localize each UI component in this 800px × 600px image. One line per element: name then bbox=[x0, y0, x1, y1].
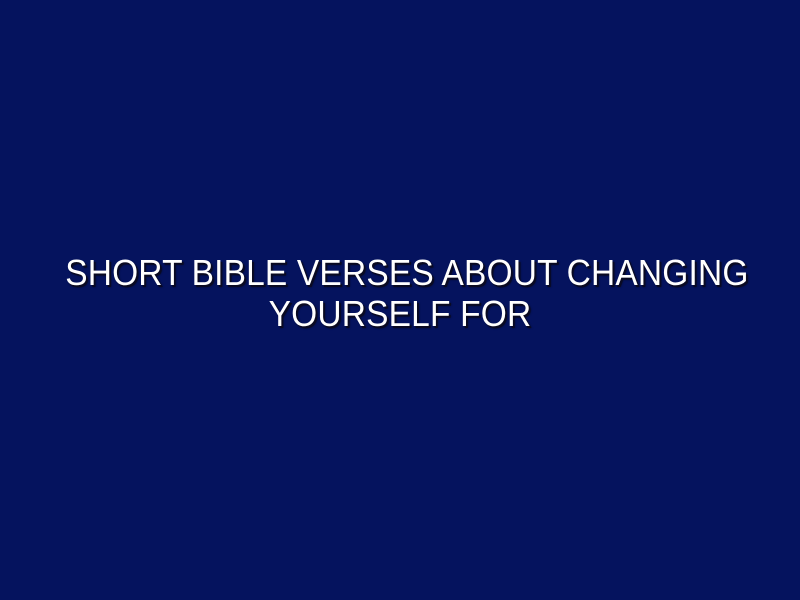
title-line-2: YOURSELF FOR bbox=[65, 293, 735, 334]
page-title: SHORT BIBLE VERSES ABOUT CHANGING YOURSE… bbox=[0, 252, 800, 334]
title-line-1: SHORT BIBLE VERSES ABOUT CHANGING bbox=[65, 252, 735, 293]
title-card: SHORT BIBLE VERSES ABOUT CHANGING YOURSE… bbox=[0, 0, 800, 600]
